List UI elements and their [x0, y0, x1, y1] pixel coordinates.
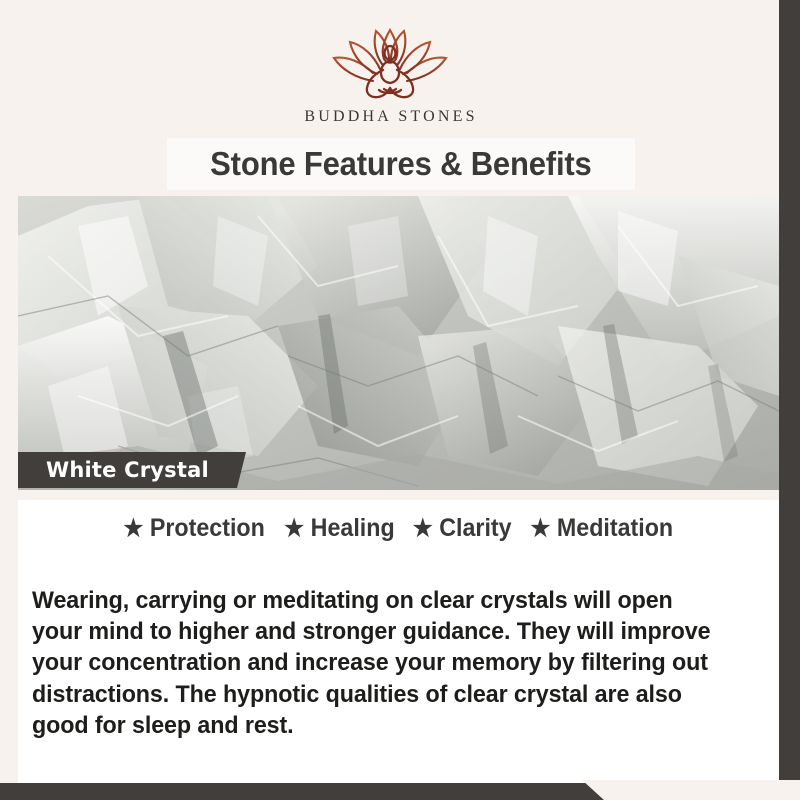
benefit-item-healing: ★ Healing: [284, 514, 394, 543]
page-title-band: Stone Features & Benefits: [167, 138, 635, 190]
benefit-item-protection: ★ Protection: [123, 514, 264, 543]
benefit-item-meditation: ★ Meditation: [531, 514, 674, 543]
star-icon: ★: [413, 517, 433, 541]
page-title: Stone Features & Benefits: [210, 145, 591, 183]
description-paragraph: Wearing, carrying or meditating on clear…: [32, 585, 723, 742]
stone-name-label: White Crystal: [18, 458, 209, 482]
lotus-meditation-logo-icon: [325, 22, 455, 104]
star-icon: ★: [284, 517, 304, 541]
content-panel: ★ Protection ★ Healing ★ Clarity ★ Medit…: [18, 500, 779, 783]
brand-name: BUDDHA STONES: [301, 108, 478, 126]
stone-name-banner: White Crystal: [18, 452, 246, 488]
benefit-label: Clarity: [439, 514, 511, 543]
infographic-card: BUDDHA STONES Stone Features & Benefits: [0, 0, 800, 800]
star-icon: ★: [123, 517, 143, 541]
benefit-label: Meditation: [557, 514, 673, 543]
benefits-list: ★ Protection ★ Healing ★ Clarity ★ Medit…: [18, 514, 779, 543]
star-icon: ★: [531, 517, 551, 541]
benefit-label: Healing: [311, 514, 395, 543]
benefit-item-clarity: ★ Clarity: [413, 514, 512, 543]
corner-wedge-top-left: [0, 0, 232, 20]
brand-logo-group: BUDDHA STONES: [0, 22, 779, 126]
hero-image: [18, 196, 779, 490]
corner-wedge-bottom-right: [580, 780, 800, 800]
white-crystal-cluster-photo: [18, 196, 779, 490]
benefit-label: Protection: [150, 514, 265, 543]
